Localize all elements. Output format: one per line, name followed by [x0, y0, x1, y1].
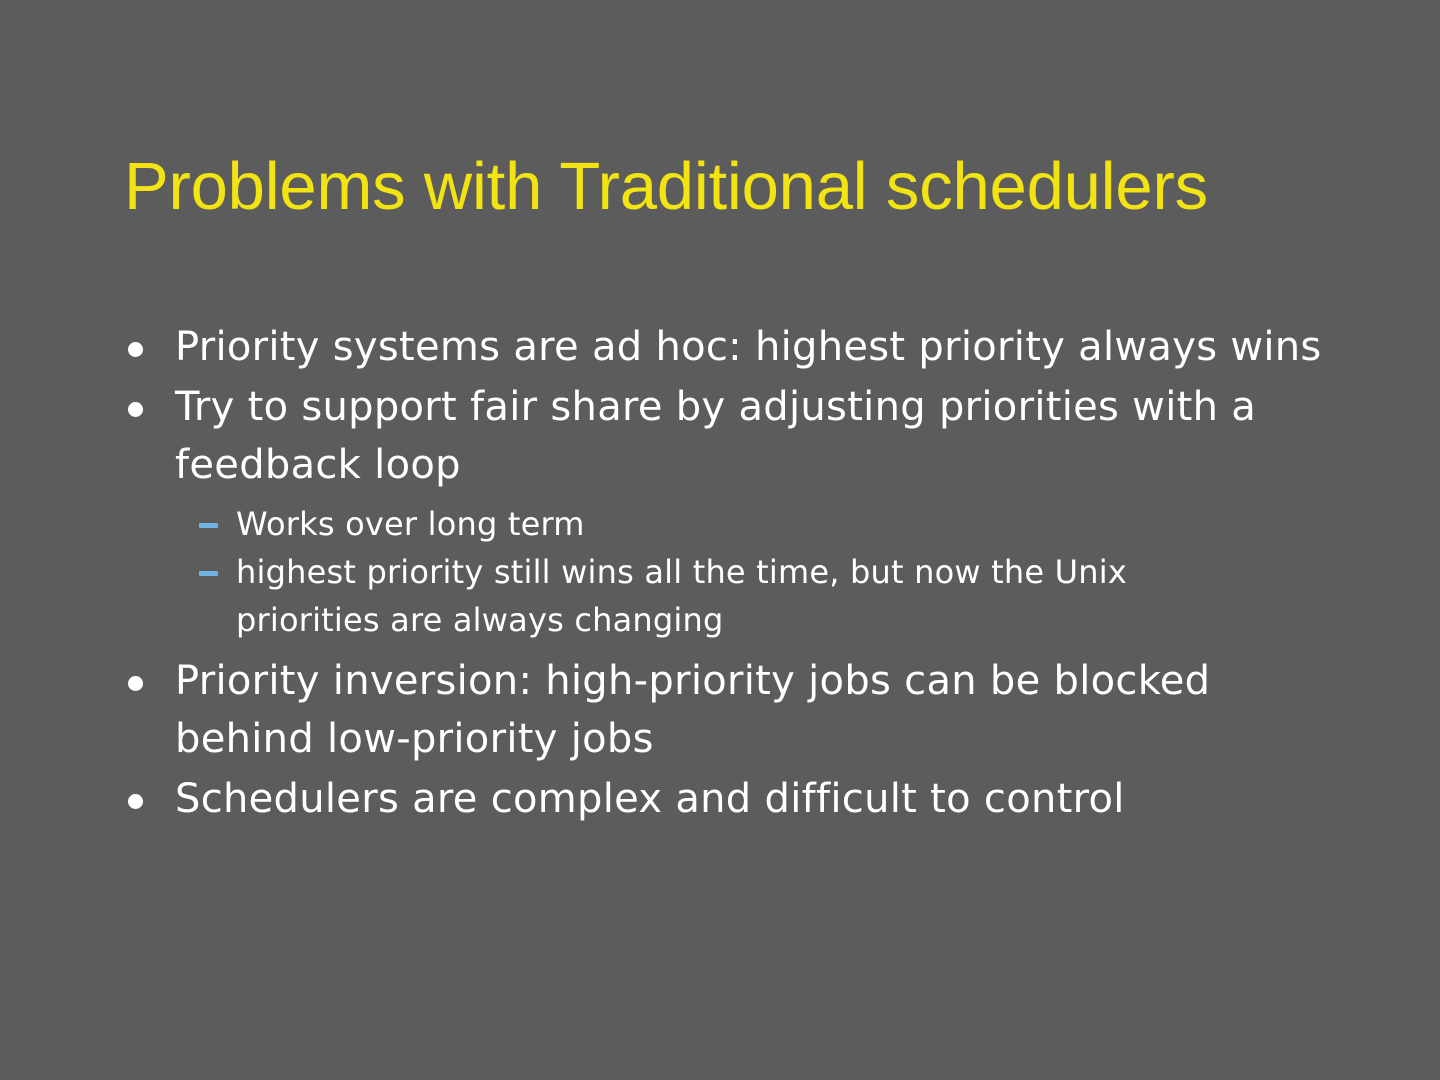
- dash-icon: [199, 523, 218, 528]
- bullet-text: Schedulers are complex and difficult to …: [175, 770, 1350, 828]
- bullet-item: Schedulers are complex and difficult to …: [118, 770, 1368, 828]
- bullet-dot-icon: [128, 402, 143, 417]
- slide-body: Priority systems are ad hoc: highest pri…: [118, 318, 1368, 830]
- bullet-dot-icon: [128, 794, 143, 809]
- bullet-text: Try to support fair share by adjusting p…: [175, 378, 1350, 494]
- bullet-item: Priority systems are ad hoc: highest pri…: [118, 318, 1368, 376]
- sub-bullet-item: highest priority still wins all the time…: [197, 548, 1368, 644]
- dash-icon: [199, 571, 218, 576]
- bullet-dot-icon: [128, 342, 143, 357]
- sub-bullet-text: Works over long term: [236, 500, 1281, 548]
- sub-bullet-text: highest priority still wins all the time…: [236, 548, 1281, 644]
- bullet-dot-icon: [128, 676, 143, 691]
- bullet-list: Priority systems are ad hoc: highest pri…: [118, 318, 1368, 828]
- bullet-text: Priority systems are ad hoc: highest pri…: [175, 318, 1350, 376]
- bullet-item: Try to support fair share by adjusting p…: [118, 378, 1368, 644]
- slide-title: Problems with Traditional schedulers: [124, 148, 1324, 226]
- sub-bullet-list: Works over long term highest priority st…: [175, 500, 1368, 644]
- bullet-text: Priority inversion: high-priority jobs c…: [175, 652, 1350, 768]
- sub-bullet-item: Works over long term: [197, 500, 1368, 548]
- presentation-slide: Problems with Traditional schedulers Pri…: [0, 0, 1440, 1080]
- bullet-item: Priority inversion: high-priority jobs c…: [118, 652, 1368, 768]
